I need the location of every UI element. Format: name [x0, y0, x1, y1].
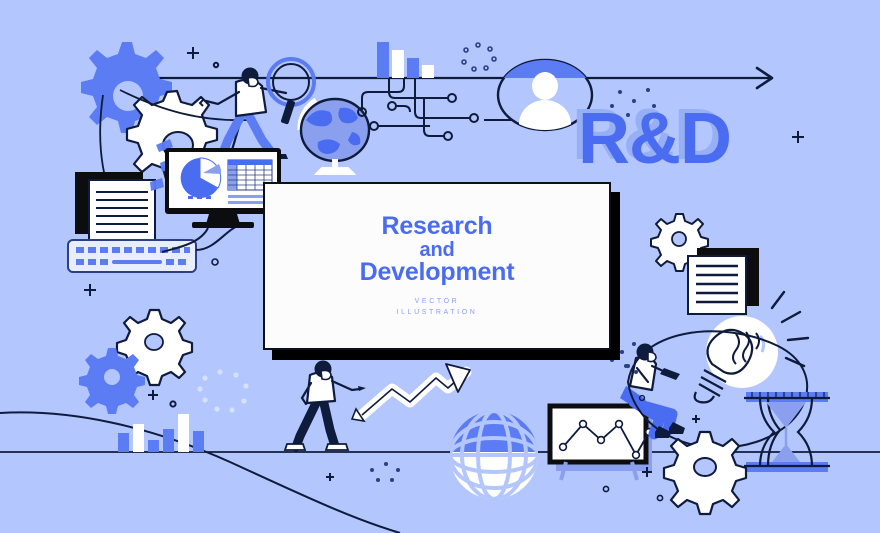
subline-group: VECTOR ILLUSTRATION [397, 297, 478, 318]
document-stack-right-icon [688, 248, 759, 314]
headline-panel: Research and Development VECTOR ILLUSTRA… [263, 182, 611, 350]
wordmark-rd: R&D [578, 103, 731, 175]
headline-line-1: Research [382, 214, 493, 240]
gear-white-bottom-right-icon [664, 432, 746, 514]
subline-illustration: ILLUSTRATION [397, 308, 478, 319]
gear-small-blue-left-icon [79, 348, 145, 414]
headline-line-3: Development [360, 260, 515, 286]
headline-line-2: and [420, 240, 455, 261]
illustration-canvas: R&D R&D Research and Development VECTOR … [0, 0, 880, 533]
subline-vector: VECTOR [397, 297, 478, 308]
line-chart-screen-icon [550, 406, 652, 480]
